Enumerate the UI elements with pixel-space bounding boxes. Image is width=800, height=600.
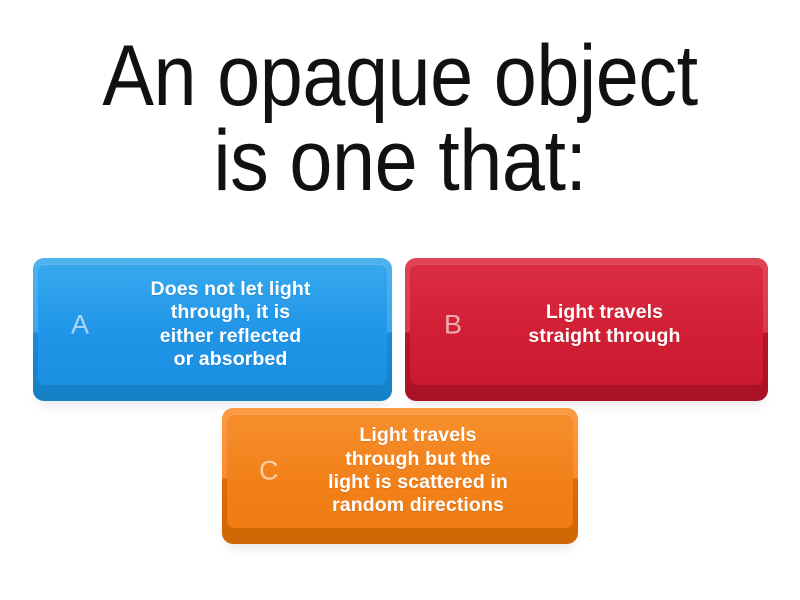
answer-c-text: Light travels through but the light is s…: [227, 424, 573, 518]
answer-b-face: B Light travels straight through: [410, 264, 763, 385]
quiz-slide: An opaque object is one that: A Does not…: [0, 0, 800, 600]
question-title: An opaque object is one that:: [40, 34, 760, 204]
answer-option-a[interactable]: A Does not let light through, it is eith…: [33, 258, 392, 401]
answer-a-face: A Does not let light through, it is eith…: [38, 264, 387, 385]
answer-a-text: Does not let light through, it is either…: [38, 278, 387, 372]
answer-option-b[interactable]: B Light travels straight through: [405, 258, 768, 401]
answer-option-c[interactable]: C Light travels through but the light is…: [222, 408, 578, 544]
answer-c-face: C Light travels through but the light is…: [227, 414, 573, 528]
answer-b-text: Light travels straight through: [410, 301, 763, 348]
